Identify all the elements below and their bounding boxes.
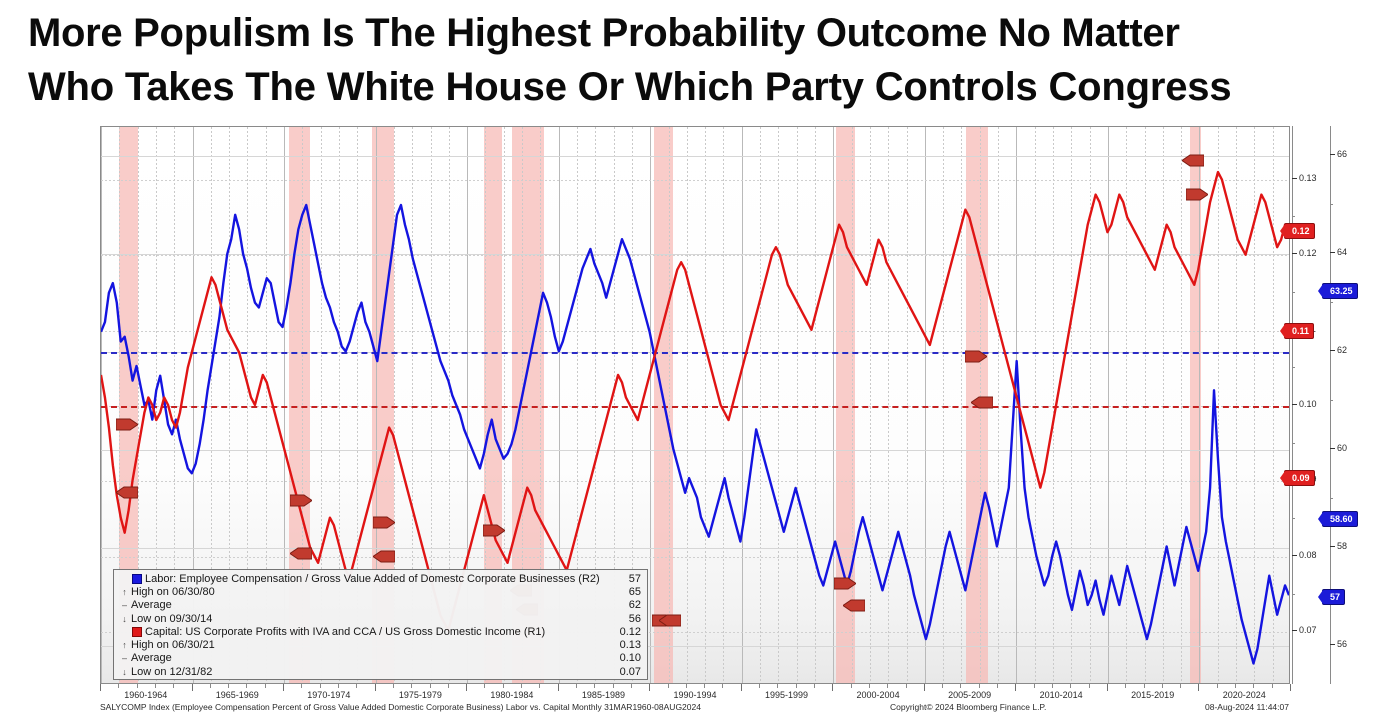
- axis-tick-label: 64: [1330, 247, 1347, 257]
- x-axis: 1960-19641965-19691970-19741975-19791980…: [100, 684, 1290, 702]
- x-axis-label: 1960-1964: [100, 690, 192, 700]
- axis-minor-tick: [1330, 400, 1333, 401]
- legend-row[interactable]: Capital: US Corporate Profits with IVA a…: [118, 625, 643, 638]
- x-axis-tick: [411, 684, 412, 688]
- badge-capital-low: 0.09: [1284, 470, 1315, 486]
- x-axis-tick: [686, 684, 687, 688]
- x-axis-label: 1965-1969: [192, 690, 284, 700]
- x-axis-tick: [320, 684, 321, 688]
- legend-label: Labor: Employee Compensation / Gross Val…: [145, 573, 599, 585]
- annotation-marker-right: [290, 493, 312, 508]
- x-axis-tick: [1052, 684, 1053, 688]
- axis-tick-label: 0.07: [1292, 625, 1317, 635]
- x-axis-tick: [704, 684, 705, 688]
- legend-value: 0.12: [599, 626, 643, 638]
- x-axis-label: 2010-2014: [1015, 690, 1107, 700]
- legend-row[interactable]: ↓Low on 12/31/820.07: [118, 665, 643, 678]
- x-axis-label: 2000-2004: [832, 690, 924, 700]
- x-axis-tick: [759, 684, 760, 688]
- x-axis-label: 1995-1999: [741, 690, 833, 700]
- legend-label: Average: [131, 599, 599, 611]
- axis-minor-tick: [1292, 367, 1295, 368]
- badge-labor-average: 58.60: [1322, 511, 1358, 527]
- annotation-marker-right: [483, 523, 505, 538]
- x-axis-tick: [1235, 684, 1236, 688]
- legend-row[interactable]: ↑High on 06/30/8065: [118, 585, 643, 598]
- footer-timestamp: 08-Aug-2024 11:44:07: [1205, 702, 1289, 712]
- title-line-1: More Populism Is The Highest Probability…: [28, 6, 1358, 60]
- x-axis-tick: [960, 684, 961, 688]
- axis-minor-tick: [1330, 204, 1333, 205]
- dash-icon: –: [118, 600, 131, 610]
- x-axis-label: 2005-2009: [924, 690, 1016, 700]
- axis-minor-tick: [1330, 498, 1333, 499]
- x-axis-tick: [521, 684, 522, 688]
- legend-row[interactable]: Labor: Employee Compensation / Gross Val…: [118, 572, 643, 585]
- x-axis-tick: [1162, 684, 1163, 688]
- x-axis-tick: [906, 684, 907, 688]
- x-axis-tick: [1272, 684, 1273, 688]
- x-axis-tick: [503, 684, 504, 688]
- x-axis-tick: [979, 684, 980, 688]
- badge-labor-high: 63.25: [1322, 283, 1358, 299]
- axis-minor-tick: [1292, 518, 1295, 519]
- axis-minor-tick: [1292, 594, 1295, 595]
- legend-swatch-red: [132, 627, 142, 637]
- axis-tick-label: 56: [1330, 639, 1347, 649]
- x-axis-tick: [722, 684, 723, 688]
- x-axis-tick: [210, 684, 211, 688]
- axis-tick-label: 66: [1330, 149, 1347, 159]
- legend-row[interactable]: ↓Low on 09/30/1456: [118, 612, 643, 625]
- axis-tick-label: 0.13: [1292, 173, 1317, 183]
- footer-copyright: Copyright© 2024 Bloomberg Finance L.P.: [890, 702, 1046, 712]
- legend-row[interactable]: ↑High on 06/30/210.13: [118, 638, 643, 651]
- annotation-marker-left: [971, 395, 993, 410]
- x-axis-separator: [1290, 684, 1291, 691]
- annotation-marker-right: [116, 417, 138, 432]
- x-axis-tick: [1034, 684, 1035, 688]
- annotation-marker-right: [373, 515, 395, 530]
- x-axis-tick: [448, 684, 449, 688]
- x-axis-tick: [1070, 684, 1071, 688]
- annotation-marker-left: [843, 598, 865, 613]
- annotation-marker-right: [1186, 187, 1208, 202]
- annotation-marker-right: [834, 576, 856, 591]
- axis-tick-label: 58: [1330, 541, 1347, 551]
- legend-row[interactable]: –Average0.10: [118, 652, 643, 665]
- x-axis-tick: [576, 684, 577, 688]
- arrow-up-icon: ↑: [118, 587, 131, 597]
- x-axis-tick: [539, 684, 540, 688]
- x-axis-tick: [887, 684, 888, 688]
- x-axis-tick: [484, 684, 485, 688]
- x-axis-label: 2015-2019: [1107, 690, 1199, 700]
- x-axis-tick: [265, 684, 266, 688]
- legend-value: 57: [599, 573, 643, 585]
- x-axis-tick: [942, 684, 943, 688]
- x-axis-tick: [613, 684, 614, 688]
- x-axis-tick: [814, 684, 815, 688]
- x-axis-tick: [796, 684, 797, 688]
- x-axis-tick: [668, 684, 669, 688]
- legend-value: 0.07: [599, 666, 643, 678]
- x-axis-tick: [393, 684, 394, 688]
- x-axis-label: 1980-1984: [466, 690, 558, 700]
- x-axis-tick: [356, 684, 357, 688]
- annotation-marker-right: [965, 349, 987, 364]
- axis-minor-tick: [1292, 292, 1295, 293]
- axis-tick-label: 62: [1330, 345, 1347, 355]
- arrow-up-icon: ↑: [118, 640, 131, 650]
- page-title: More Populism Is The Highest Probability…: [28, 6, 1358, 114]
- x-axis-tick: [155, 684, 156, 688]
- legend-label: Low on 12/31/82: [131, 666, 599, 678]
- axis-tick-label: 0.12: [1292, 248, 1317, 258]
- legend-value: 0.10: [599, 652, 643, 664]
- axis-tick-label: 0.08: [1292, 550, 1317, 560]
- annotation-marker-left: [1182, 153, 1204, 168]
- legend-swatch-blue: [132, 574, 142, 584]
- x-axis-tick: [869, 684, 870, 688]
- legend-value: 0.13: [599, 639, 643, 651]
- annotation-marker-left: [290, 546, 312, 561]
- x-axis-tick: [851, 684, 852, 688]
- x-axis-label: 1985-1989: [558, 690, 650, 700]
- legend-label: High on 06/30/21: [131, 639, 599, 651]
- x-axis-tick: [1144, 684, 1145, 688]
- axis-tick-label: 60: [1330, 443, 1347, 453]
- x-axis-tick: [997, 684, 998, 688]
- axis-minor-tick: [1292, 443, 1295, 444]
- axis-minor-tick: [1292, 216, 1295, 217]
- x-axis-tick: [1180, 684, 1181, 688]
- badge-capital-last: 0.12: [1284, 223, 1315, 239]
- legend-label: Capital: US Corporate Profits with IVA a…: [145, 626, 599, 638]
- legend-value: 62: [599, 599, 643, 611]
- x-axis-tick: [246, 684, 247, 688]
- x-axis-tick: [1089, 684, 1090, 688]
- chart-legend[interactable]: Labor: Employee Compensation / Gross Val…: [113, 569, 648, 680]
- legend-label: Low on 09/30/14: [131, 613, 599, 625]
- x-axis-tick: [1217, 684, 1218, 688]
- footer-description: SALYCOMP Index (Employee Compensation Pe…: [100, 702, 701, 712]
- x-axis-tick: [777, 684, 778, 688]
- legend-label: High on 06/30/80: [131, 586, 599, 598]
- x-axis-tick: [1125, 684, 1126, 688]
- x-axis-tick: [338, 684, 339, 688]
- annotation-marker-left: [116, 485, 138, 500]
- dash-icon: –: [118, 653, 131, 663]
- badge-labor-last: 57: [1322, 589, 1345, 605]
- arrow-down-icon: ↓: [118, 614, 131, 624]
- x-axis-tick: [631, 684, 632, 688]
- x-axis-tick: [301, 684, 302, 688]
- annotation-marker-left: [373, 549, 395, 564]
- x-axis-tick: [118, 684, 119, 688]
- legend-row[interactable]: –Average62: [118, 599, 643, 612]
- arrow-down-icon: ↓: [118, 667, 131, 677]
- x-axis-tick: [594, 684, 595, 688]
- bloomberg-chart-screenshot: More Populism Is The Highest Probability…: [0, 0, 1385, 723]
- title-line-2: Who Takes The White House Or Which Party…: [28, 60, 1358, 114]
- x-axis-tick: [430, 684, 431, 688]
- x-axis-label: 1975-1979: [375, 690, 467, 700]
- x-axis-label: 2020-2024: [1198, 690, 1290, 700]
- x-axis-tick: [173, 684, 174, 688]
- x-axis-tick: [228, 684, 229, 688]
- x-axis-label: 1970-1974: [283, 690, 375, 700]
- annotation-marker-left: [659, 613, 681, 628]
- badge-capital-average: 0.11: [1284, 323, 1314, 339]
- axis-minor-tick: [1330, 302, 1333, 303]
- legend-value: 65: [599, 586, 643, 598]
- axis-tick-label: 0.10: [1292, 399, 1317, 409]
- x-axis-tick: [1253, 684, 1254, 688]
- legend-label: Average: [131, 652, 599, 664]
- x-axis-tick: [137, 684, 138, 688]
- x-axis-label: 1990-1994: [649, 690, 741, 700]
- legend-value: 56: [599, 613, 643, 625]
